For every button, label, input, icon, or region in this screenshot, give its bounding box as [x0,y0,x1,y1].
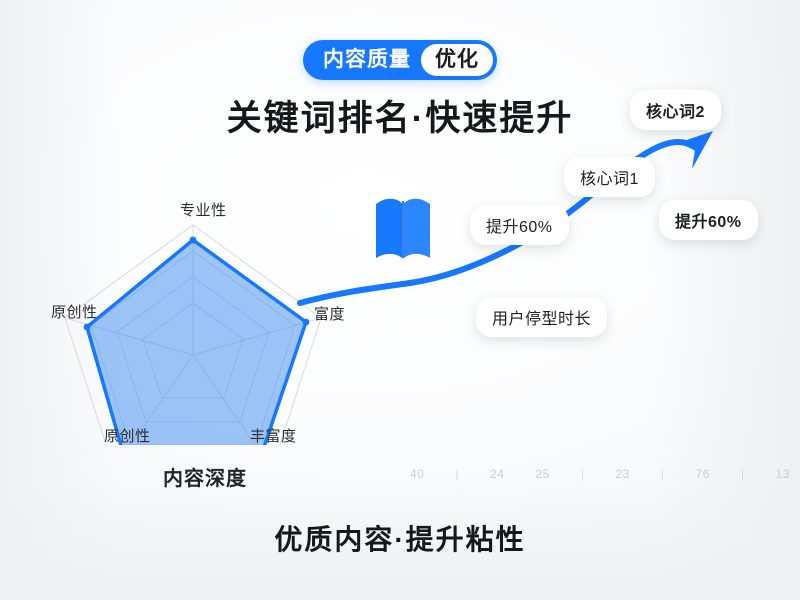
callout-keyword-1[interactable]: 核心词1 [564,157,655,197]
callout-uplift-right[interactable]: 提升60% [659,200,758,240]
radar-series-polygon [87,240,306,445]
badge-main-label: 内容质量 [303,40,421,80]
radar-axis-label-bottom-left: 原创性 [104,425,151,446]
axis-tick: 24 [490,467,504,481]
radar-axis-label-bottom-right: 丰富度 [250,425,297,446]
axis-tick-mark: | [741,467,745,481]
page-title: 关键词排名·快速提升 [227,90,574,141]
callout-uplift-left[interactable]: 提升60% [470,205,569,245]
callout-keyword-2[interactable]: 核心词2 [630,90,721,130]
axis-tick-mark: | [455,467,459,481]
radar-caption: 内容深度 [163,462,247,491]
quality-badge[interactable]: 内容质量 优化 [303,40,497,80]
axis-tick: 23 [615,467,629,481]
axis-tick: 13 [776,467,790,481]
open-book-icon [372,188,434,266]
faint-axis-ticks: 40 | 24 25 | 23 | 76 | 13 [410,462,790,486]
axis-tick: 25 [535,467,549,481]
poster-canvas: 内容质量 优化 关键词排名·快速提升 专业性 富 [0,0,800,600]
axis-tick: 40 [410,467,424,481]
callout-dwell-time[interactable]: 用户停型时长 [476,297,607,337]
radar-axis-label-left: 原创性 [51,301,98,322]
radar-axis-label-right: 富度 [314,303,345,324]
badge-tag-label: 优化 [421,44,493,76]
axis-tick: 76 [696,467,710,481]
footer-title: 优质内容·提升粘性 [274,518,525,558]
axis-tick-mark: | [661,467,665,481]
axis-tick-mark: | [581,467,585,481]
growth-curve-arrowhead [678,131,713,169]
radar-axis-label-top: 专业性 [180,199,227,220]
